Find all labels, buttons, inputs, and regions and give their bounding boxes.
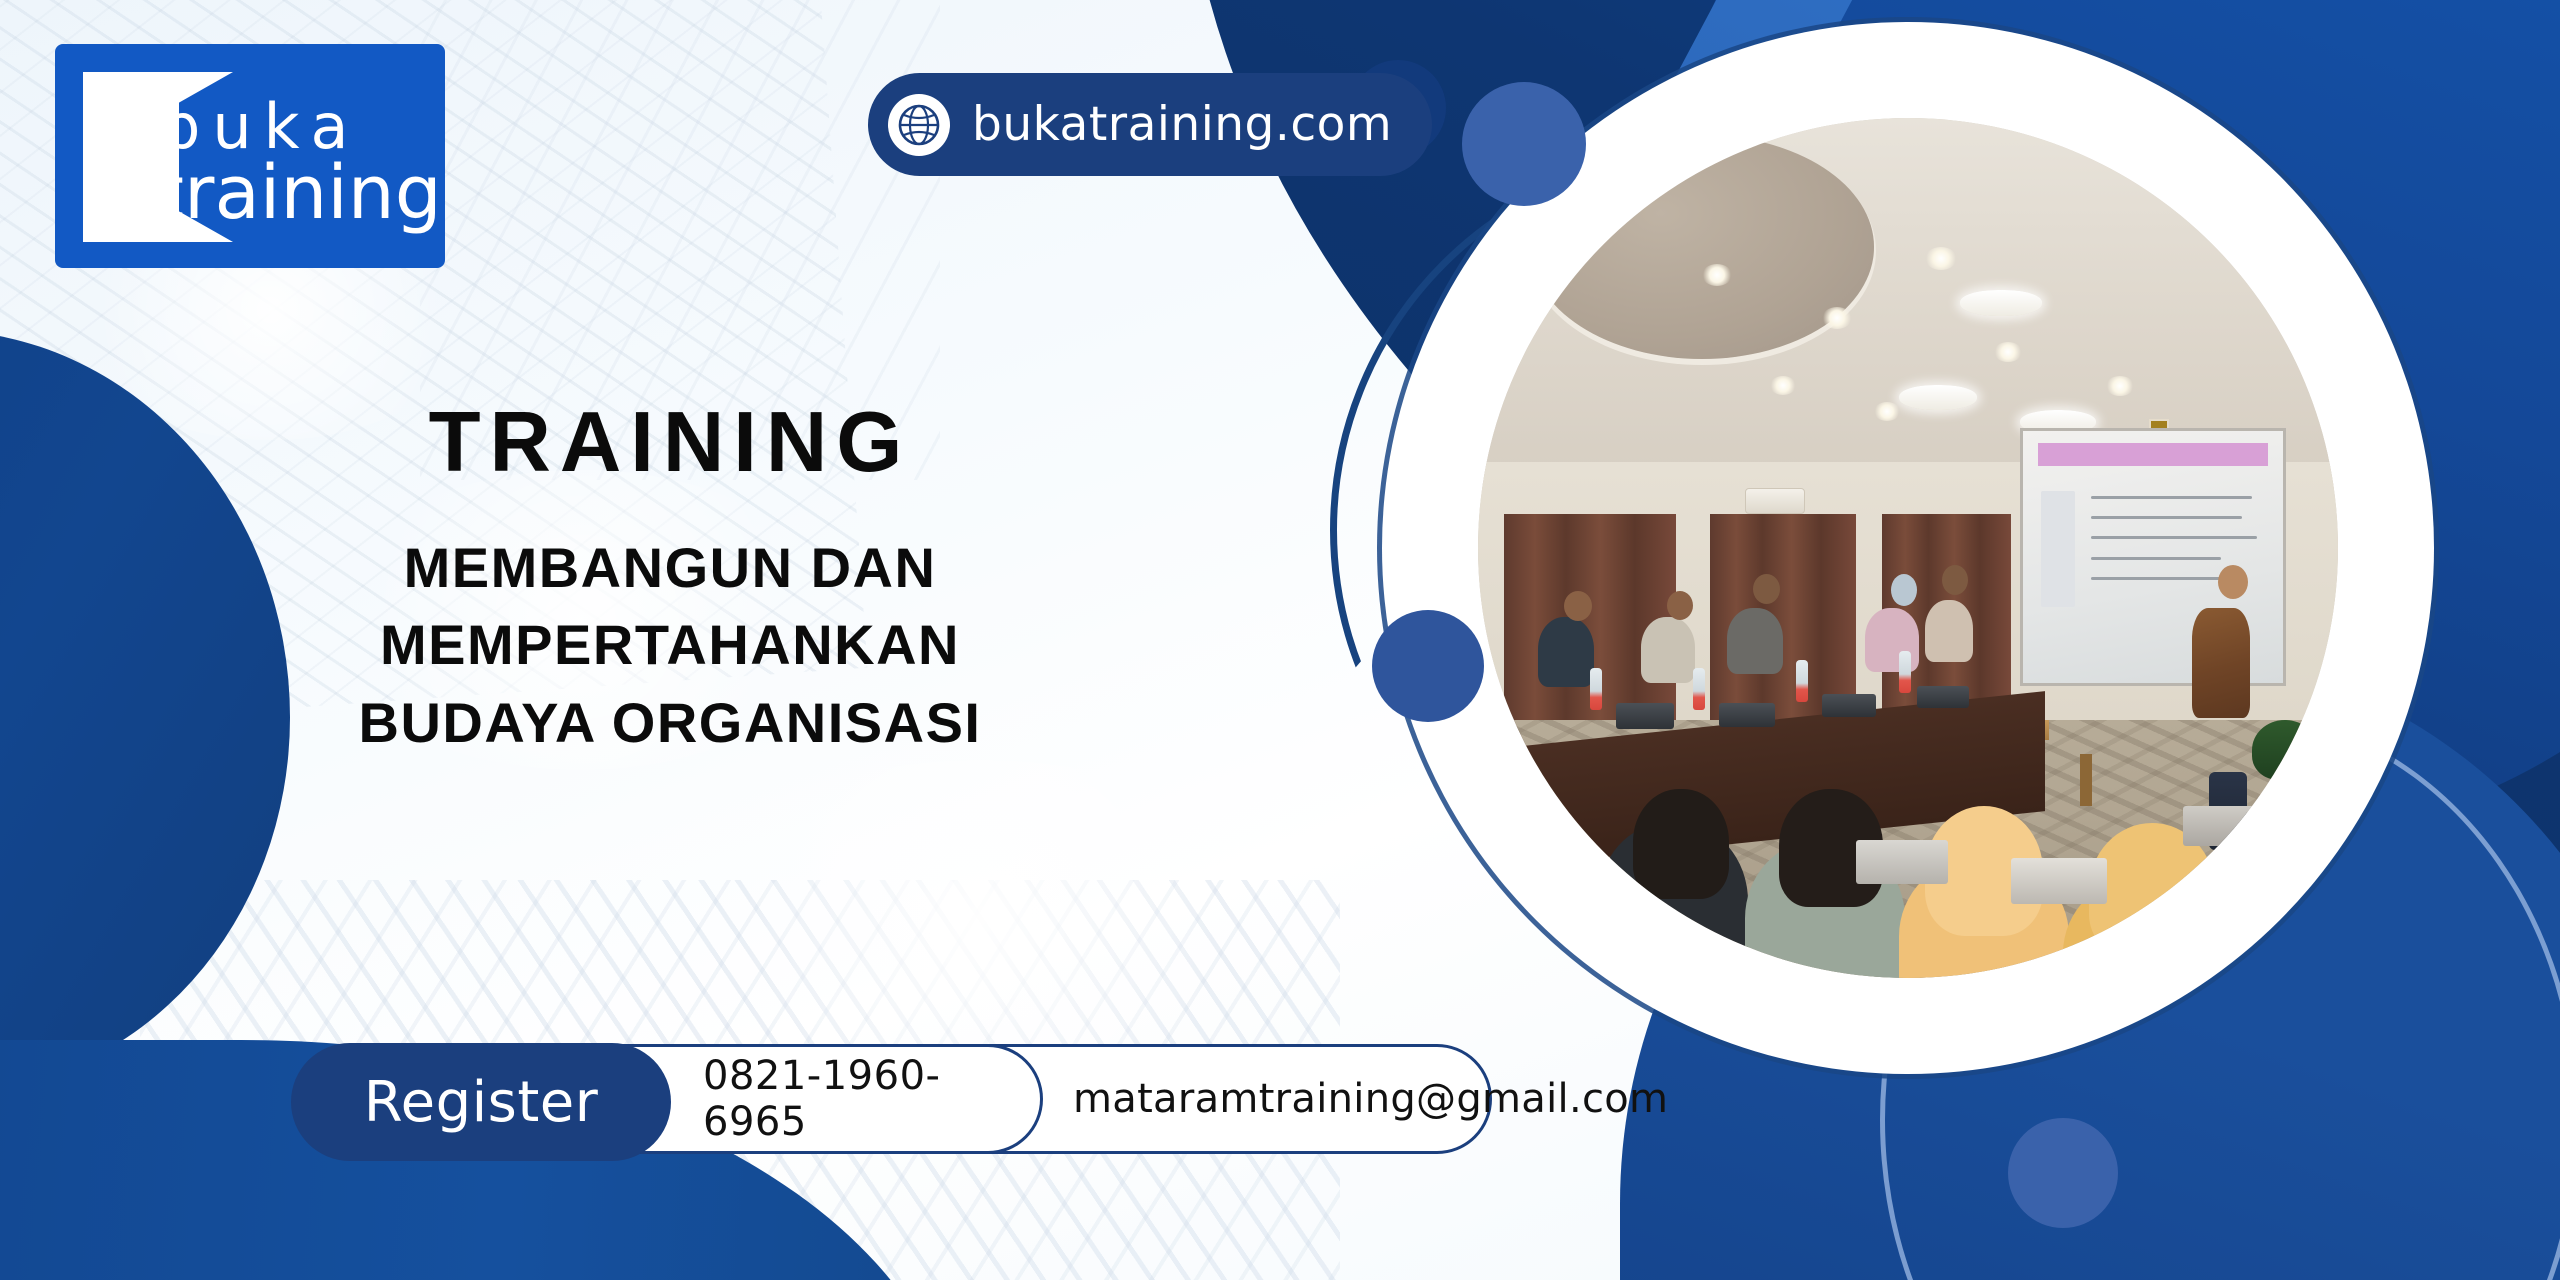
- photo-light: [1702, 264, 1732, 286]
- logo-word-training: training: [155, 156, 442, 230]
- register-bar[interactable]: Register 0821-1960-6965 mataramtraining@…: [300, 1044, 1492, 1154]
- decorative-dot-middle: [1372, 610, 1484, 722]
- headline-block: TRAINING MEMBANGUN DAN MEMPERTAHANKAN BU…: [170, 400, 1170, 761]
- photo-light-panel: [1899, 385, 1977, 410]
- course-title-line-1: MEMBANGUN DAN: [170, 529, 1170, 606]
- photo-bottle: [1899, 651, 1911, 693]
- photo-laptop-open: [2183, 806, 2261, 846]
- photo-foreground-attendee: [1478, 806, 1591, 966]
- photo-participant: [1538, 617, 1594, 687]
- logo-word-buka: buka: [161, 96, 360, 158]
- photo-bottle: [1796, 660, 1808, 702]
- photo-laptop: [1917, 686, 1969, 708]
- photo-light: [2106, 376, 2134, 396]
- photo-screen-line: [2091, 557, 2221, 560]
- photo-light: [1925, 247, 1957, 270]
- photo-laptop: [1719, 703, 1775, 727]
- photo-ceiling-dome: [1530, 135, 1874, 359]
- course-title-line-3: BUDAYA ORGANISASI: [170, 684, 1170, 761]
- photo-plant: [2252, 720, 2318, 780]
- photo-participant-head: [1753, 574, 1780, 604]
- photo-bottle: [1693, 668, 1705, 710]
- globe-icon: [888, 94, 950, 156]
- photo-light: [1598, 187, 1632, 211]
- photo-participant-head: [1564, 591, 1592, 621]
- photo-presenter-body: [2192, 608, 2250, 718]
- decorative-dot-bottom: [2008, 1118, 2118, 1228]
- photo-laptop: [1616, 703, 1674, 729]
- photo-air-conditioner: [1745, 488, 1805, 514]
- photo-attendee-hair: [1633, 789, 1729, 899]
- photo-screen-line: [2091, 536, 2258, 539]
- photo-screen-sidebar: [2041, 491, 2075, 607]
- photo-presenter-head: [2218, 565, 2248, 599]
- photo-screen-line: [2091, 496, 2253, 499]
- decorative-dot-top: [1462, 82, 1586, 206]
- register-button[interactable]: Register: [291, 1043, 671, 1161]
- photo-bottle: [1590, 668, 1602, 710]
- photo-screen-titlebar: [2038, 443, 2267, 466]
- photo-laptop-open: [1856, 840, 1948, 884]
- photo-screen-line: [2091, 516, 2242, 519]
- photo-light: [1874, 402, 1900, 421]
- buka-training-logo[interactable]: buka training: [55, 44, 445, 268]
- register-divider: [987, 1044, 1043, 1154]
- photo-participant: [1925, 600, 1973, 662]
- course-title: MEMBANGUN DAN MEMPERTAHANKAN BUDAYA ORGA…: [170, 529, 1170, 761]
- register-email[interactable]: mataramtraining@gmail.com: [1073, 1047, 1668, 1151]
- photo-laptop: [1822, 694, 1876, 717]
- website-url-text: bukatraining.com: [972, 97, 1392, 152]
- website-badge[interactable]: bukatraining.com: [868, 73, 1432, 176]
- photo-participant: [1727, 608, 1783, 674]
- course-title-line-2: MEMPERTAHANKAN: [170, 606, 1170, 683]
- training-photo: [1478, 118, 2338, 978]
- photo-light: [1994, 342, 2022, 362]
- cloud-wash-2: [680, 760, 1280, 1080]
- photo-participant-head: [1891, 574, 1917, 606]
- photo-light-panel: [1960, 290, 2042, 316]
- photo-laptop-open: [2011, 858, 2107, 904]
- promo-banner: buka training bukatraining.com TRAINING …: [0, 0, 2560, 1280]
- photo-participant: [1641, 617, 1695, 683]
- kicker-training: TRAINING: [170, 400, 1170, 485]
- photo-podium-stand: [2080, 754, 2092, 806]
- register-phone[interactable]: 0821-1960-6965: [703, 1047, 993, 1151]
- photo-participant-head: [1667, 591, 1693, 620]
